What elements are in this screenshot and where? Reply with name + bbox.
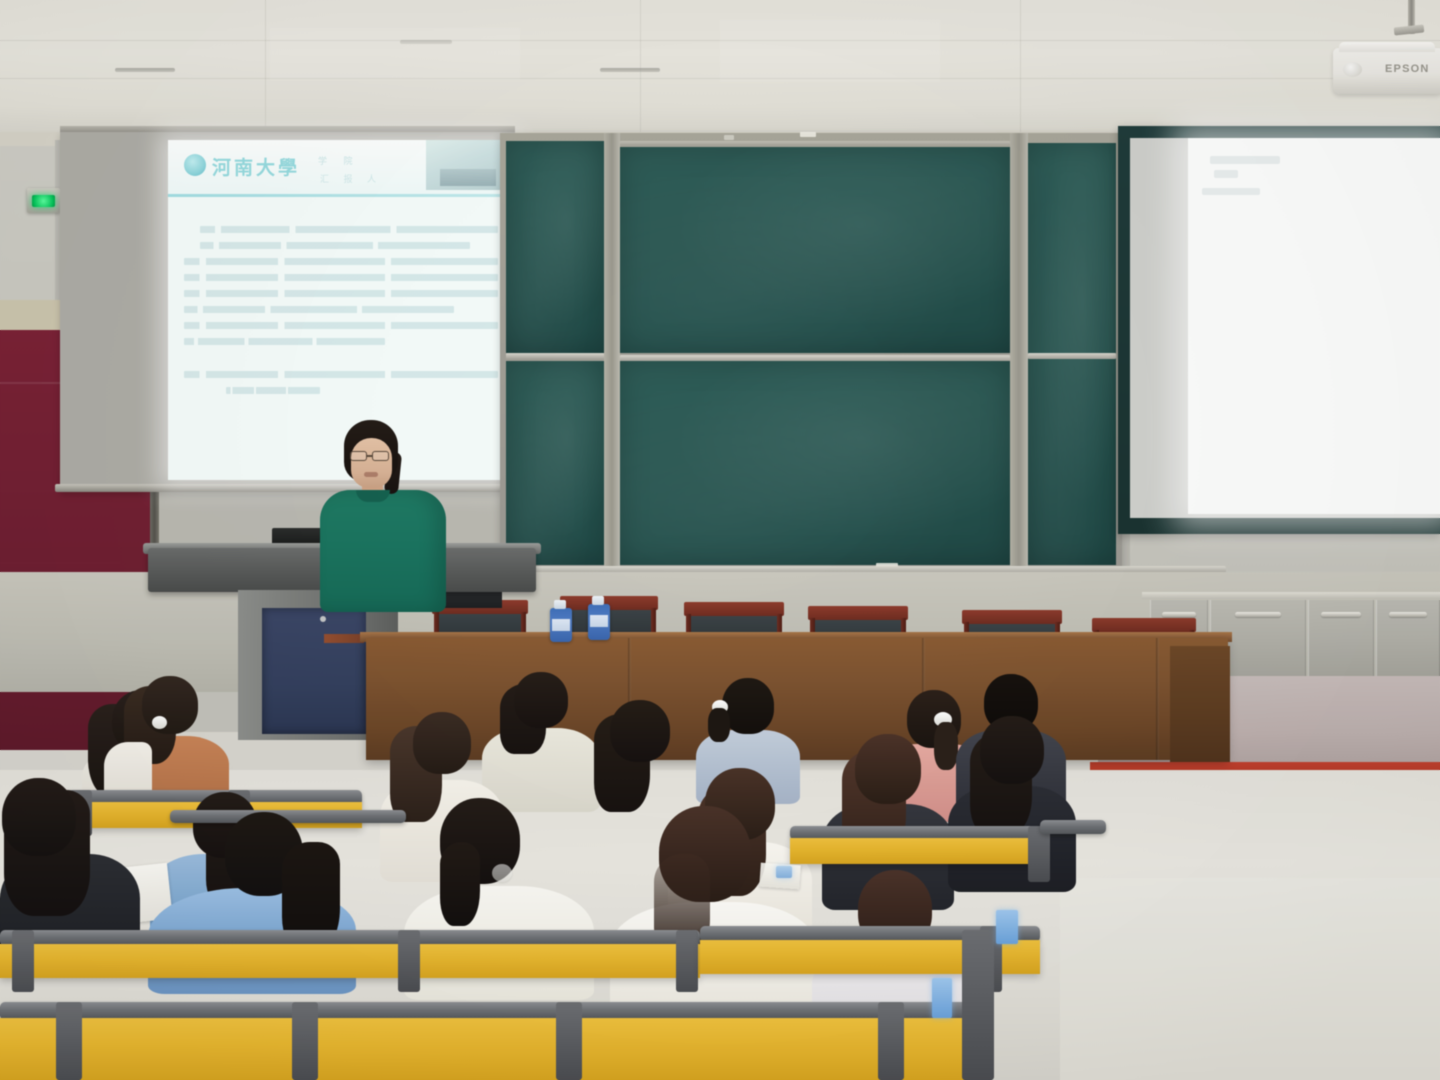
bench-seat[interactable]: [0, 944, 700, 978]
phone-screen[interactable]: [932, 978, 952, 1018]
phone-screen[interactable]: [996, 910, 1018, 944]
screen-right-surface: [1130, 138, 1440, 518]
person-hair: [440, 842, 480, 926]
person-head: [514, 672, 568, 728]
cabinet-door[interactable]: [1376, 600, 1440, 676]
blackboard-mullion-right: [1010, 133, 1028, 573]
bench-seat[interactable]: [790, 838, 1045, 864]
ceiling-vent-icon: [600, 68, 660, 72]
bottle-label: [552, 619, 570, 631]
seat-bracket: [962, 930, 994, 1080]
slide-subtitle-1: 学 院: [318, 154, 360, 167]
blackboard: [500, 133, 1122, 573]
projector-icon: EPSON: [1333, 48, 1440, 94]
blackboard-rail-top: [620, 141, 1010, 145]
person-head: [855, 734, 921, 804]
university-crest-icon: [184, 154, 206, 176]
projector-lens-icon: [1343, 62, 1362, 77]
cabinet-door[interactable]: [1308, 600, 1374, 676]
seat-rail: [1040, 820, 1106, 834]
audience-member: [948, 716, 1076, 892]
bottle-label: [590, 615, 608, 627]
person-head: [142, 676, 198, 734]
slide-divider: [168, 194, 508, 197]
blackboard-panel-center-upper: [620, 147, 1010, 353]
cabinet-top-edge: [1142, 592, 1440, 599]
person-head: [980, 716, 1044, 784]
blackboard-rail-center: [620, 355, 1010, 361]
blackboard-mullion-left: [604, 133, 620, 573]
phone-screen[interactable]: [776, 866, 792, 878]
slide-subtitle-2: 汇 报 人: [320, 172, 382, 185]
hair-tie: [152, 716, 167, 729]
screen-right-projection: [1188, 138, 1440, 514]
presenter: [320, 420, 450, 650]
seat-bracket: [1028, 826, 1050, 882]
chair-backrest: [1092, 618, 1196, 632]
cabinet-handle[interactable]: [1235, 612, 1281, 617]
floor-right-area: [1060, 878, 1440, 1080]
water-bottle[interactable]: [550, 608, 572, 642]
presenter-face: [351, 438, 392, 488]
seat-bracket: [398, 930, 420, 992]
slide-header: 河南大學 学 院 汇 报 人: [168, 140, 508, 194]
projector-brand-label: EPSON: [1385, 63, 1430, 75]
seat-bracket: [292, 1002, 318, 1080]
screen-right: [1118, 126, 1440, 534]
slide-university-name: 河南大學: [212, 153, 300, 180]
blackboard-panel-center-lower: [620, 361, 1010, 565]
chair-backrest: [808, 606, 908, 620]
bench-seat[interactable]: [0, 1018, 980, 1080]
presenter-mouth: [364, 472, 378, 477]
chair-backrest: [684, 602, 784, 616]
water-bottle[interactable]: [588, 604, 610, 640]
seat-bracket: [12, 930, 34, 992]
ceiling-vent-icon: [115, 68, 175, 72]
seat-bracket: [878, 1002, 904, 1080]
cabinet-handle[interactable]: [1162, 612, 1196, 617]
ceiling-vent-icon: [400, 40, 452, 44]
person-hair: [708, 708, 730, 742]
blackboard-panel-left-lower: [506, 361, 604, 565]
seat-bracket: [676, 930, 698, 992]
person-head: [610, 700, 670, 762]
exit-lamp-glow: [32, 195, 55, 207]
seat-bracket: [556, 1002, 582, 1080]
blackboard-rail-right: [1028, 353, 1116, 359]
blackboard-panel-left-upper: [506, 141, 604, 353]
person-head: [2, 778, 76, 856]
screen-left-bottom-bar: [55, 484, 523, 492]
ceiling: [0, 0, 1440, 132]
presenter-sweater: [320, 490, 446, 612]
slide-body-text: [184, 226, 498, 403]
cabinet-handle[interactable]: [1389, 612, 1427, 617]
hair-tie: [492, 864, 512, 882]
cabinet-handle[interactable]: [1321, 612, 1361, 617]
blackboard-rail-upper: [506, 353, 604, 359]
seat-bracket: [56, 1002, 82, 1080]
glasses-icon: [350, 451, 393, 461]
lecture-hall-scene: EPSON 河南大學 学 院 汇 报 人: [0, 0, 1440, 1080]
chair-backrest: [962, 610, 1062, 624]
exit-indicator-icon: [27, 188, 60, 213]
panel-desk-right-return: [1170, 646, 1230, 762]
person-head: [413, 712, 471, 774]
slide-header-photo: [426, 140, 508, 190]
